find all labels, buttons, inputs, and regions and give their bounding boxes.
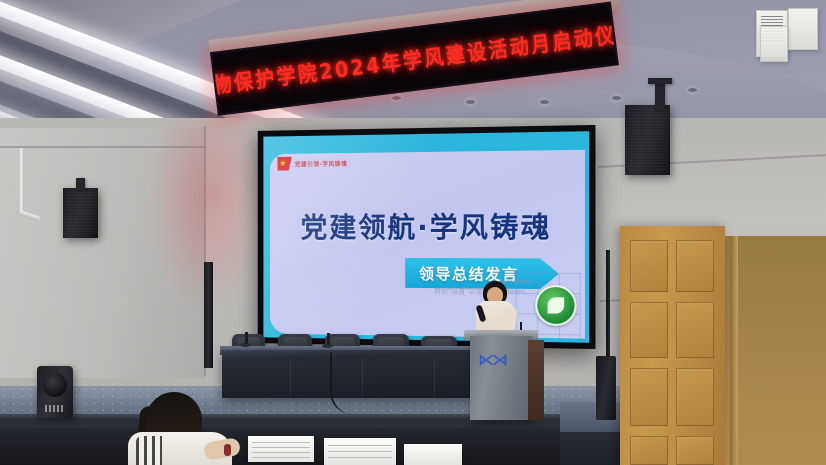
- wall-control-panel[interactable]: [760, 26, 788, 62]
- door-mullion: [730, 236, 738, 465]
- door-panel: [630, 436, 668, 465]
- wooden-door[interactable]: [620, 226, 725, 465]
- audience-shirt-stripe: [136, 436, 162, 465]
- party-flag-icon: [278, 157, 292, 171]
- open-notebook: [324, 438, 396, 465]
- door-panel: [676, 240, 714, 292]
- university-seal-icon: [535, 285, 576, 326]
- wall-pipe: [19, 148, 24, 216]
- lectern: ⋉⋊: [470, 336, 532, 420]
- table-divider: [290, 358, 291, 396]
- door-panel: [676, 436, 714, 465]
- door-panel: [630, 240, 668, 292]
- slide-corner-logo-text: 党建引领·学风铸魂: [295, 158, 348, 167]
- microphone-stand: [327, 333, 330, 345]
- speaker-bracket: [648, 78, 672, 84]
- speaker-label: [45, 405, 65, 412]
- door-panel: [676, 302, 714, 358]
- head-table: [222, 350, 492, 398]
- paper-sheet: [404, 444, 462, 465]
- slide-title: 党建领航·学风铸魂: [270, 205, 585, 246]
- downlight: [612, 96, 621, 100]
- speaker-bracket: [76, 178, 85, 190]
- door-panel: [630, 368, 668, 426]
- projection-screen: 党建引领·学风铸魂 党建领航·学风铸魂 领导总结发言: [258, 125, 596, 349]
- downlight: [466, 100, 475, 104]
- downlight: [540, 100, 549, 104]
- speaker-grille: [628, 109, 667, 171]
- microphone-stand: [245, 332, 248, 344]
- door-panel: [676, 368, 714, 426]
- table-divider: [434, 358, 435, 396]
- slide-content-area: 党建引领·学风铸魂 党建领航·学风铸魂 领导总结发言: [270, 150, 585, 339]
- wall-control-panel[interactable]: [788, 8, 818, 50]
- column-speaker-right: [606, 250, 610, 360]
- speaker-grille: [66, 192, 95, 234]
- door-panel: [630, 302, 668, 358]
- slide-corner-logo: 党建引领·学风铸魂: [278, 156, 348, 171]
- speaker-bracket: [655, 80, 665, 110]
- audience-bracelet: [224, 444, 231, 456]
- downlight: [392, 96, 401, 100]
- lectern-side-post: [528, 340, 544, 420]
- audio-cable: [330, 352, 352, 414]
- column-speaker: [204, 262, 213, 368]
- presentation-slide: 党建引领·学风铸魂 党建领航·学风铸魂 领导总结发言: [263, 131, 589, 343]
- downlight: [688, 88, 697, 92]
- seated-audience-member: [120, 392, 250, 465]
- wall-seam: [0, 146, 206, 148]
- speaker-woofer-icon: [43, 373, 67, 397]
- table-divider: [362, 358, 363, 396]
- portable-pa-speaker: [37, 366, 73, 418]
- lectern-emblem-icon: ⋉⋊: [478, 350, 508, 368]
- wall-speaker-left: [63, 188, 98, 238]
- conference-hall-photo: 植物保护学院2024年学风建设活动月启动仪式 党建引领·学风铸魂 党建领航·学风…: [0, 0, 826, 465]
- open-notebook: [248, 436, 314, 462]
- wall-speaker-right: [625, 105, 670, 175]
- trash-bin: [596, 356, 616, 420]
